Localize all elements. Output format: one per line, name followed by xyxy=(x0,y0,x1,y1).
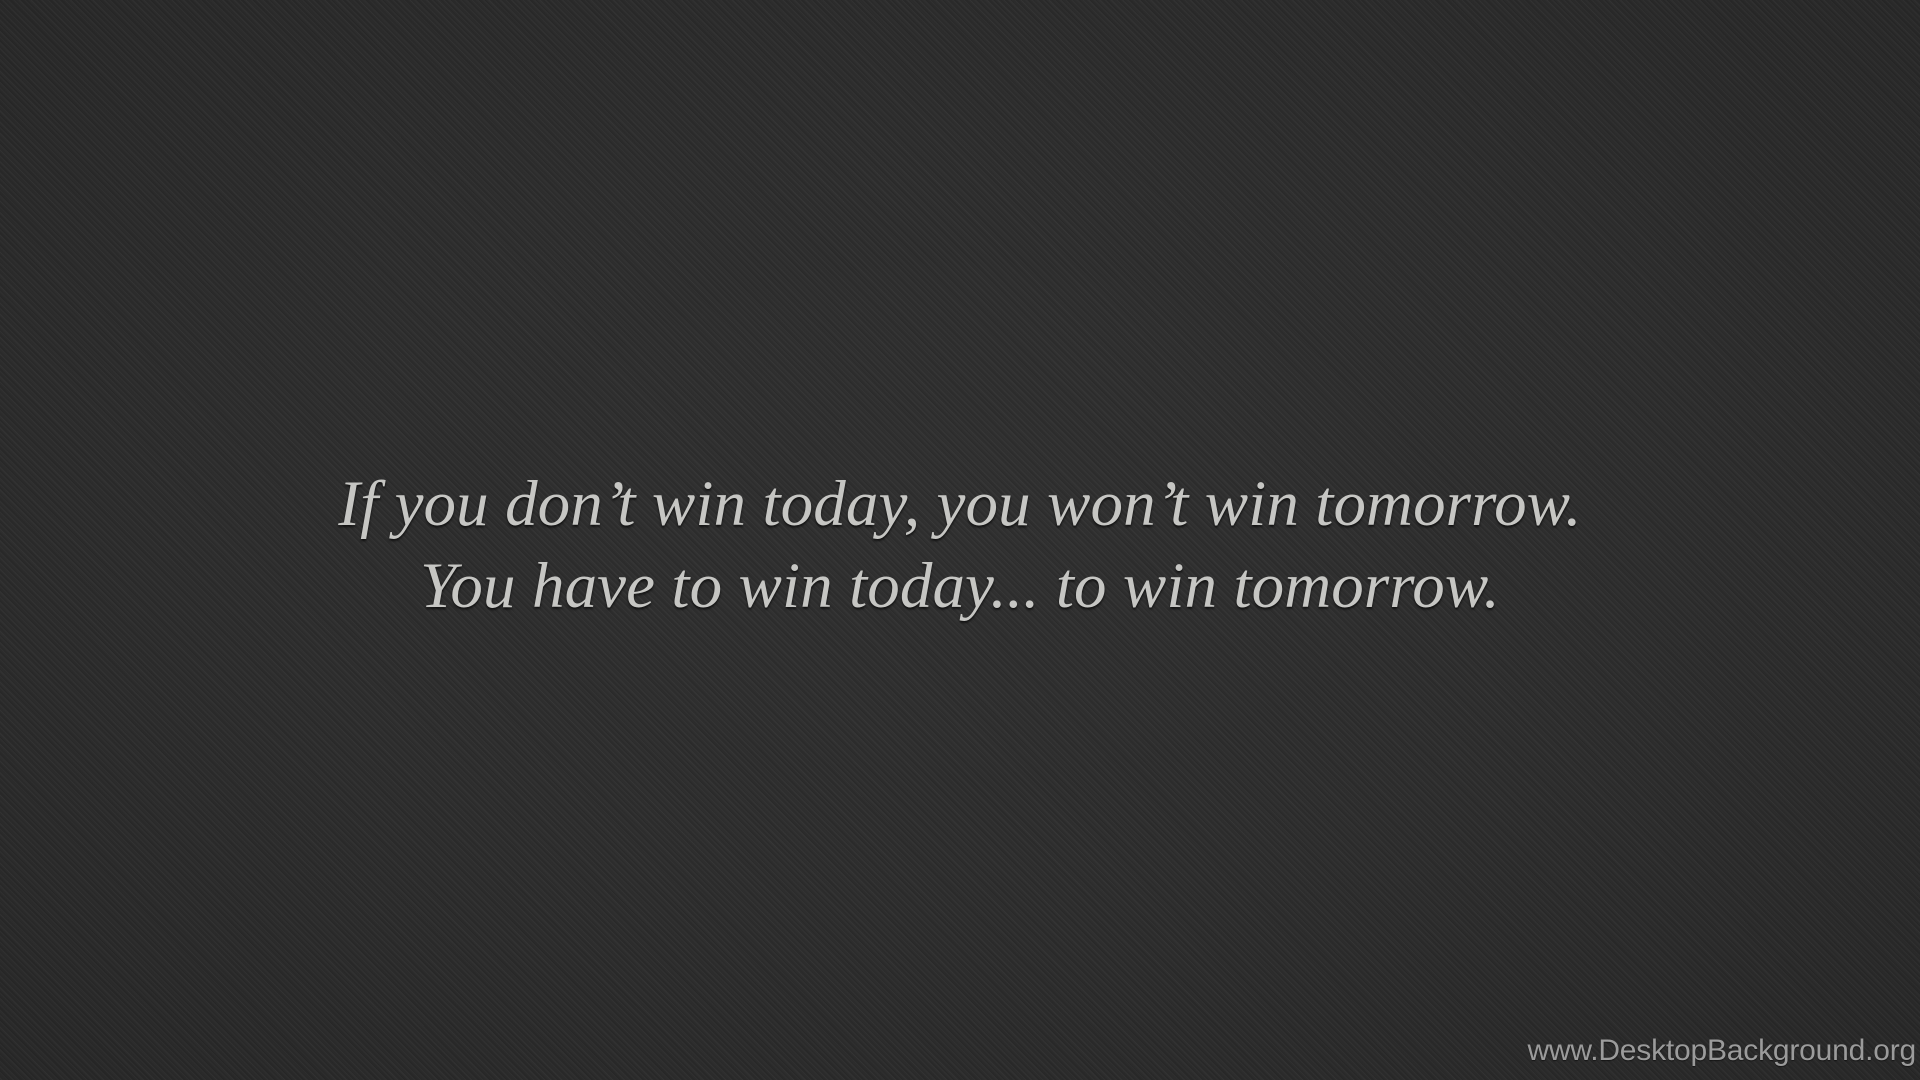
quote-text: If you don’t win today, you won’t win to… xyxy=(0,463,1920,627)
wallpaper-canvas: If you don’t win today, you won’t win to… xyxy=(0,0,1920,1080)
site-watermark: www.DesktopBackground.org xyxy=(1527,1034,1916,1068)
quote-line-2: You have to win today... to win tomorrow… xyxy=(0,545,1920,627)
quote-line-1: If you don’t win today, you won’t win to… xyxy=(0,463,1920,545)
